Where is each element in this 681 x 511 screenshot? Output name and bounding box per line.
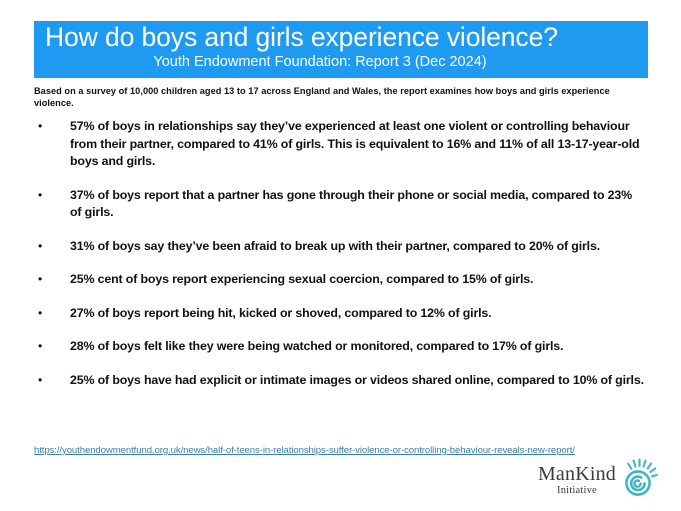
list-item-text: 25% cent of boys report experiencing sex… <box>70 271 646 289</box>
bullet-dot-icon: • <box>34 338 70 356</box>
bullet-dot-icon: • <box>34 118 70 136</box>
list-item: • 28% of boys felt like they were being … <box>34 338 646 356</box>
logo-wordmark: ManKind Initiative <box>538 460 616 497</box>
list-item: • 37% of boys report that a partner has … <box>34 187 646 222</box>
logo-tagline-text: Initiative <box>557 485 597 497</box>
slide-canvas: How do boys and girls experience violenc… <box>0 0 681 511</box>
page-subtitle: Youth Endowment Foundation: Report 3 (De… <box>34 53 648 72</box>
list-item: • 25% cent of boys report experiencing s… <box>34 271 646 289</box>
list-item-text: 57% of boys in relationships say they’ve… <box>70 118 646 171</box>
list-item-text: 37% of boys report that a partner has go… <box>70 187 646 222</box>
page-title: How do boys and girls experience violenc… <box>34 22 648 53</box>
list-item-text: 28% of boys felt like they were being wa… <box>70 338 646 356</box>
logo-name-text: ManKind <box>538 464 616 485</box>
list-item-text: 25% of boys have had explicit or intimat… <box>70 372 646 390</box>
bullet-dot-icon: • <box>34 187 70 205</box>
source-link[interactable]: https://youthendowmentfund.org.uk/news/h… <box>34 444 634 458</box>
list-item-text: 31% of boys say they’ve been afraid to b… <box>70 238 646 256</box>
bullet-list: • 57% of boys in relationships say they’… <box>34 118 646 405</box>
bullet-dot-icon: • <box>34 305 70 323</box>
spiral-sun-icon <box>619 458 659 503</box>
bullet-dot-icon: • <box>34 238 70 256</box>
list-item: • 27% of boys report being hit, kicked o… <box>34 305 646 323</box>
list-item: • 57% of boys in relationships say they’… <box>34 118 646 171</box>
mankind-initiative-logo: ManKind Initiative <box>538 460 659 503</box>
list-item: • 25% of boys have had explicit or intim… <box>34 372 646 390</box>
intro-paragraph: Based on a survey of 10,000 children age… <box>34 86 634 109</box>
bullet-dot-icon: • <box>34 372 70 390</box>
list-item-text: 27% of boys report being hit, kicked or … <box>70 305 646 323</box>
list-item: • 31% of boys say they’ve been afraid to… <box>34 238 646 256</box>
title-banner: How do boys and girls experience violenc… <box>34 21 648 78</box>
bullet-dot-icon: • <box>34 271 70 289</box>
